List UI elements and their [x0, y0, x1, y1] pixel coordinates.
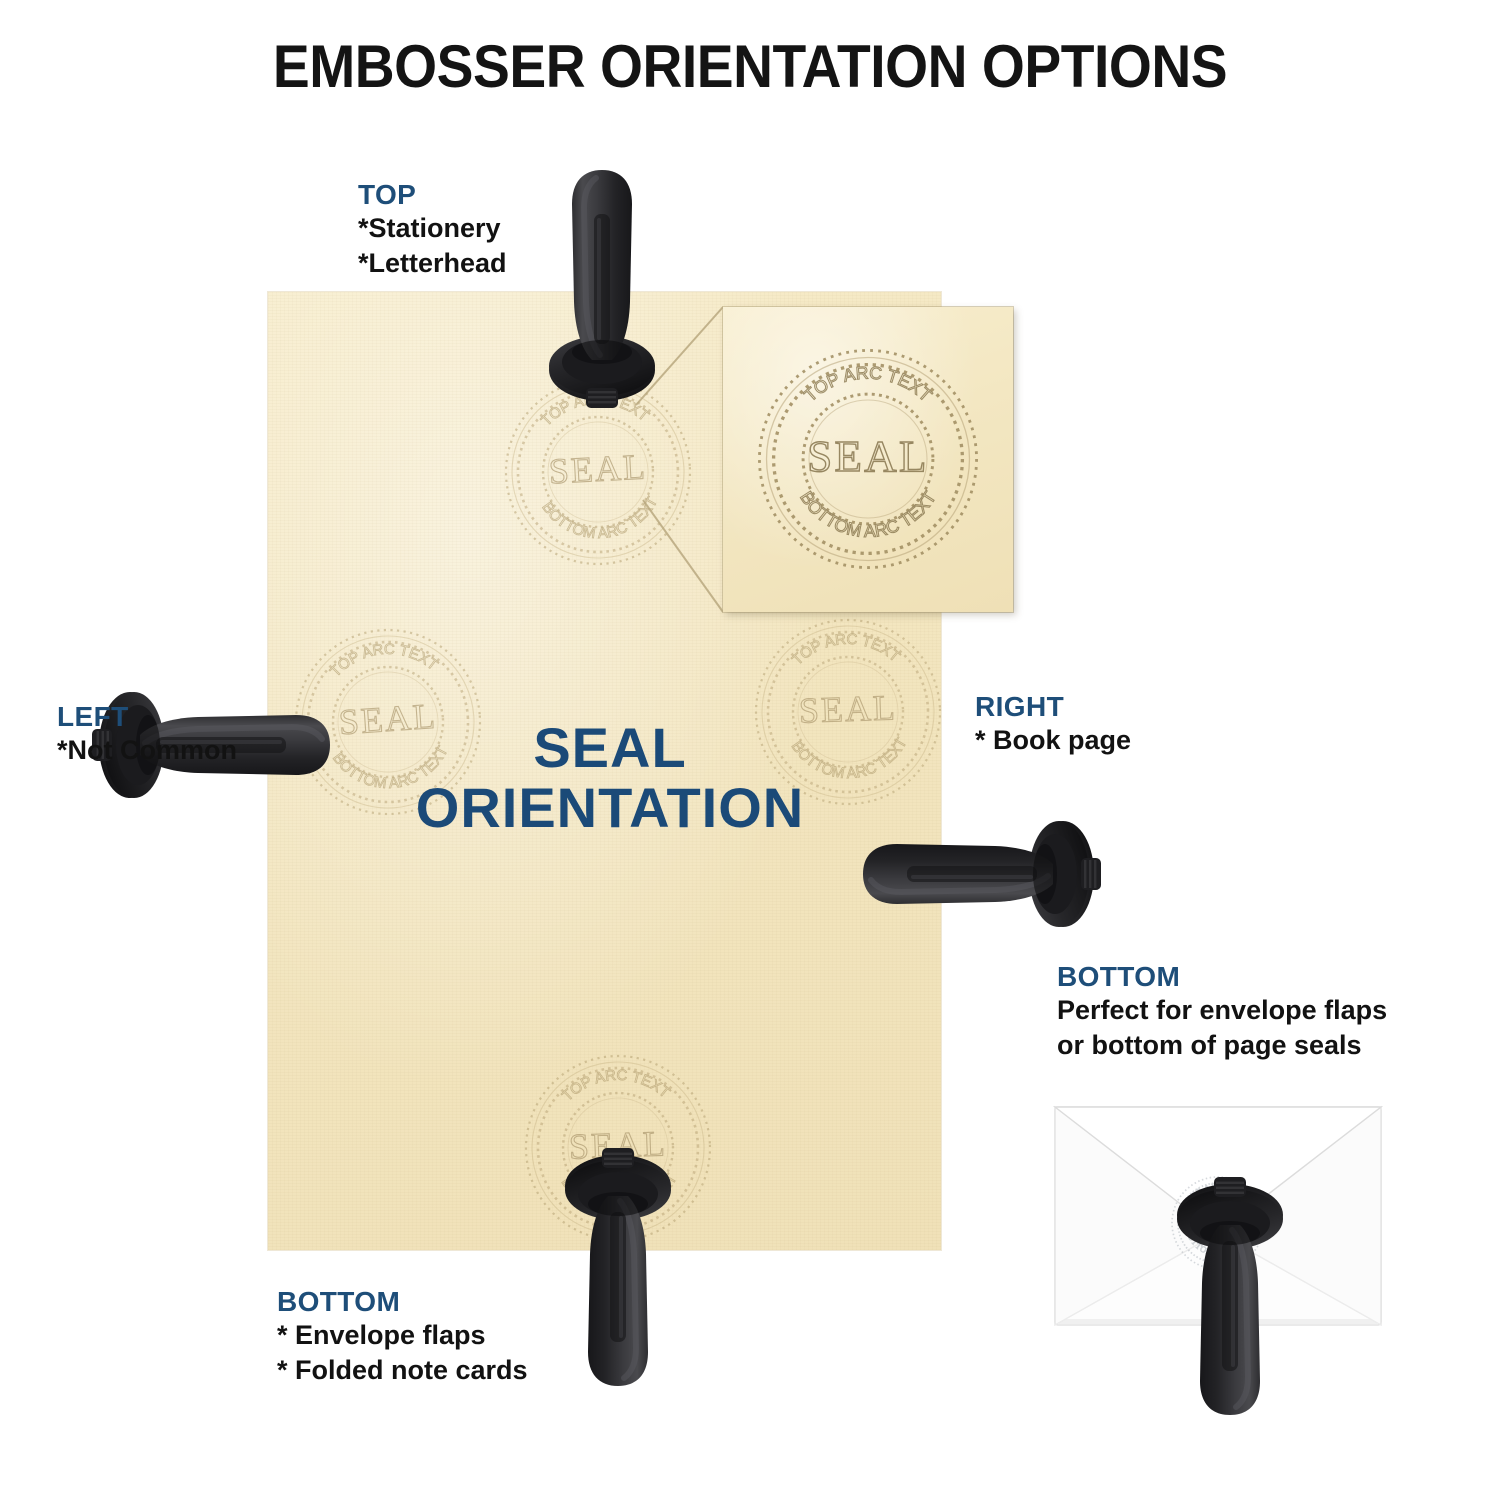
label-left: LEFT *Not Common: [57, 700, 237, 768]
label-top-heading: TOP: [358, 178, 507, 211]
svg-text:SEAL: SEAL: [807, 431, 929, 481]
label-right: RIGHT * Book page: [975, 690, 1131, 758]
label-bottom-envelope-line-2: or bottom of page seals: [1057, 1028, 1387, 1063]
embosser-envelope: [1170, 1177, 1290, 1433]
label-bottom-paper: BOTTOM * Envelope flaps * Folded note ca…: [277, 1285, 528, 1387]
label-bottom-paper-line-1: * Envelope flaps: [277, 1318, 528, 1353]
label-bottom-paper-heading: BOTTOM: [277, 1285, 528, 1318]
label-left-heading: LEFT: [57, 700, 237, 733]
label-left-line-1: *Not Common: [57, 733, 237, 768]
magnified-seal-callout: TOP ARC TEXT BOTTOM ARC TEXT SEAL: [723, 307, 1013, 612]
label-bottom-envelope: BOTTOM Perfect for envelope flaps or bot…: [1057, 960, 1387, 1062]
label-right-heading: RIGHT: [975, 690, 1131, 723]
page-title: EMBOSSER ORIENTATION OPTIONS: [60, 32, 1440, 101]
label-bottom-envelope-line-1: Perfect for envelope flaps: [1057, 993, 1387, 1028]
embosser-bottom: [558, 1148, 678, 1404]
label-top: TOP *Stationery *Letterhead: [358, 178, 507, 280]
embosser-top: [542, 152, 662, 408]
illustration-stage: EMBOSSER ORIENTATION OPTIONS TOP ARC TEX…: [0, 0, 1500, 1500]
label-right-line-1: * Book page: [975, 723, 1131, 758]
label-bottom-paper-line-2: * Folded note cards: [277, 1353, 528, 1388]
label-top-line-2: *Letterhead: [358, 246, 507, 281]
label-top-line-1: *Stationery: [358, 211, 507, 246]
svg-text:BOTTOM ARC TEXT: BOTTOM ARC TEXT: [796, 488, 940, 541]
label-bottom-envelope-heading: BOTTOM: [1057, 960, 1387, 993]
